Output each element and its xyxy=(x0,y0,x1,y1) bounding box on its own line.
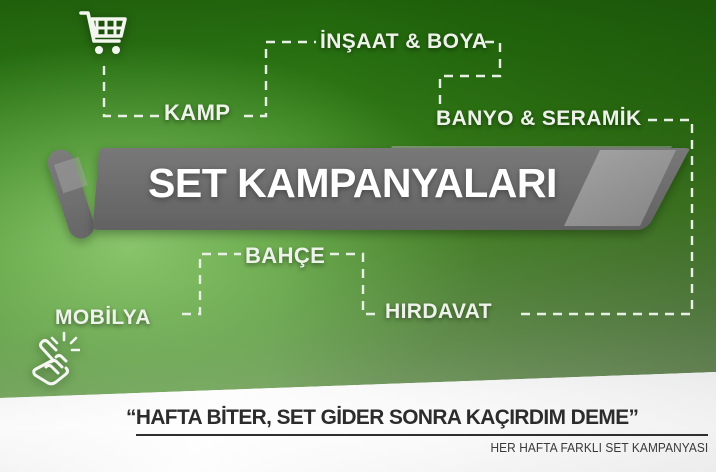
category-label-banyo-seramik[interactable]: BANYO & SERAMİK xyxy=(436,107,642,131)
set-kampanyalari-promo-banner: SET KAMPANYALARI xyxy=(0,0,716,472)
category-label-insaat-boya[interactable]: İNŞAAT & BOYA xyxy=(320,30,487,54)
category-label-hirdavat[interactable]: HIRDAVAT xyxy=(385,300,492,324)
footer-tagline: “HAFTA BİTER, SET GİDER SONRA KAÇIRDIM D… xyxy=(126,405,638,430)
footer-divider-rule xyxy=(136,434,708,436)
category-label-kamp[interactable]: KAMP xyxy=(164,100,230,126)
page-title: SET KAMPANYALARI xyxy=(148,160,557,207)
footer-subtitle: HER HAFTA FARKLI SET KAMPANYASI xyxy=(490,441,708,455)
category-label-bahce[interactable]: BAHÇE xyxy=(245,243,325,269)
tap-hand-cursor-icon xyxy=(26,330,80,386)
shopping-cart-icon xyxy=(78,8,130,64)
category-label-mobilya[interactable]: MOBİLYA xyxy=(55,306,151,330)
